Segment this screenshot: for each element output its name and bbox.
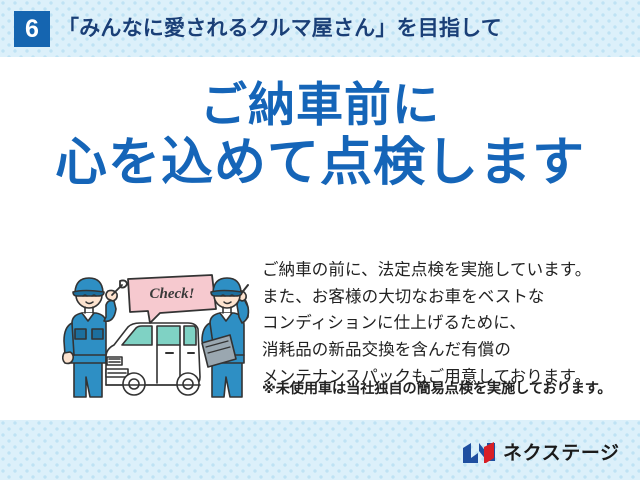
- speech-bubble-label: Check!: [150, 286, 195, 302]
- nexstage-n-mark: [462, 441, 496, 465]
- body-paragraph: ご納車の前に、法定点検を実施しています。 また、お客様の大切なお車をベストな コ…: [262, 257, 622, 391]
- header-title: 「みんなに愛されるクルマ屋さん」を目指して: [58, 16, 502, 41]
- mechanics-illustration: Check!: [62, 265, 258, 405]
- body-line: コンディションに仕上げるために、: [262, 310, 622, 337]
- inspection-promo-banner: 6 「みんなに愛されるクルマ屋さん」を目指して ご納車前に 心を込めて点検します…: [0, 0, 640, 480]
- body-line: また、お客様の大切なお車をベストな: [262, 284, 622, 311]
- headline-line-1: ご納車前に: [0, 79, 640, 132]
- section-number-badge: 6: [14, 11, 50, 47]
- body-line: 消耗品の新品交換を含んだ有償の: [262, 337, 622, 364]
- body-line: ご納車の前に、法定点検を実施しています。: [262, 257, 622, 284]
- headline-line-2: 心を込めて点検します: [0, 134, 640, 192]
- brand-logo: ネクステージ: [462, 441, 620, 465]
- content-panel: ご納車前に 心を込めて点検します ご納車の前に、法定点検を実施しています。 また…: [0, 57, 640, 420]
- footnote-text: ※未使用車は当社独自の簡易点検を実施しております。: [262, 378, 632, 398]
- page-title: ご納車前に 心を込めて点検します: [0, 79, 640, 192]
- brand-name: ネクステージ: [503, 444, 620, 463]
- van-illustration: [106, 323, 200, 395]
